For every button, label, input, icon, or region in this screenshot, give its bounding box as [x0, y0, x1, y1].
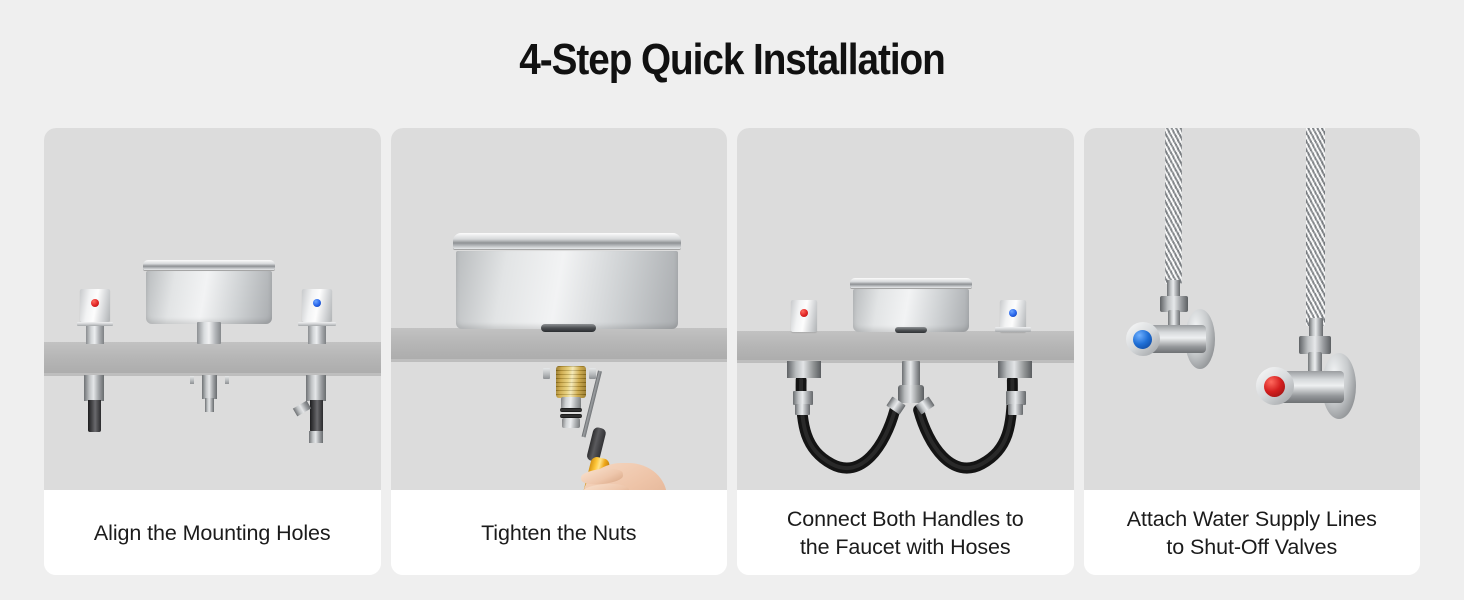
step-3-illustration	[737, 128, 1074, 490]
step-4-caption-area: Attach Water Supply Lines to Shut-Off Va…	[1084, 490, 1421, 575]
faucet-spout	[143, 260, 275, 324]
hot-hose-ferrule	[795, 404, 810, 415]
spout-body	[146, 271, 272, 324]
hot-valve-knob[interactable]	[1256, 367, 1294, 405]
nut-threads	[556, 366, 586, 398]
mounting-screw-left	[543, 368, 550, 379]
step-1-illustration	[44, 128, 381, 490]
hot-line-ferrule	[1309, 318, 1323, 338]
cold-shank-lower	[310, 400, 323, 432]
spout-shank	[902, 361, 920, 386]
page-title: 4-Step Quick Installation	[88, 38, 1376, 82]
brass-mounting-nut	[556, 366, 586, 398]
step-3-caption: Connect Both Handles to the Faucet with …	[787, 505, 1024, 561]
step-card-1[interactable]: Align the Mounting Holes	[44, 128, 381, 575]
braided-supply-line-hot	[1306, 128, 1325, 326]
spout-shank	[202, 375, 217, 399]
o-ring-upper	[560, 408, 582, 412]
cold-elbow	[293, 401, 311, 417]
step-1-caption: Align the Mounting Holes	[94, 519, 331, 547]
step-4-illustration	[1084, 128, 1421, 490]
spout-body	[456, 251, 678, 329]
mounting-screw-right	[589, 368, 596, 379]
hot-hose-nut	[793, 391, 813, 405]
counter-deck	[44, 342, 381, 376]
hot-under-deck-fitting	[787, 361, 821, 378]
hot-knob-face	[1264, 376, 1285, 397]
cold-under-deck-fitting	[998, 361, 1032, 378]
step-4-caption: Attach Water Supply Lines to Shut-Off Va…	[1127, 505, 1377, 561]
cold-hose-tip	[309, 431, 323, 443]
step-card-2[interactable]: Tighten the Nuts	[391, 128, 728, 575]
hot-marker-icon	[91, 299, 99, 307]
cold-valve-knob[interactable]	[1126, 322, 1160, 356]
counter-deck	[391, 328, 728, 362]
step-2-illustration	[391, 128, 728, 490]
cold-marker-icon	[313, 299, 321, 307]
supply-hoses	[737, 128, 1074, 490]
shank-tip	[562, 418, 580, 428]
step-card-4[interactable]: Attach Water Supply Lines to Shut-Off Va…	[1084, 128, 1421, 575]
steps-card-grid: Align the Mounting Holes	[44, 128, 1420, 575]
hot-handle	[80, 289, 110, 343]
spout-lip	[453, 233, 681, 249]
cold-hose-ferrule	[1008, 404, 1023, 415]
spout-neck	[197, 322, 221, 344]
hot-shank-lower	[88, 400, 101, 432]
mounting-screw-right	[225, 376, 229, 384]
step-1-caption-area: Align the Mounting Holes	[44, 490, 381, 575]
cold-handle	[302, 289, 332, 343]
braided-supply-line-cold	[1165, 128, 1182, 284]
step-2-caption: Tighten the Nuts	[481, 519, 636, 547]
faucet-spout	[453, 233, 681, 329]
spout-base-seal	[541, 324, 596, 332]
hot-shank	[84, 375, 104, 401]
step-2-caption-area: Tighten the Nuts	[391, 490, 728, 575]
step-card-3[interactable]: Connect Both Handles to the Faucet with …	[737, 128, 1074, 575]
cold-knob-face	[1133, 330, 1152, 349]
mounting-screw-left	[190, 376, 194, 384]
cold-shank	[306, 375, 326, 401]
handle-stem	[308, 326, 326, 344]
spout-lip	[143, 260, 275, 270]
cold-hose-nut	[1006, 391, 1026, 405]
handle-stem	[86, 326, 104, 344]
tee-fitting	[898, 385, 924, 403]
step-3-caption-area: Connect Both Handles to the Faucet with …	[737, 490, 1074, 575]
spout-shank-tip	[205, 398, 214, 412]
